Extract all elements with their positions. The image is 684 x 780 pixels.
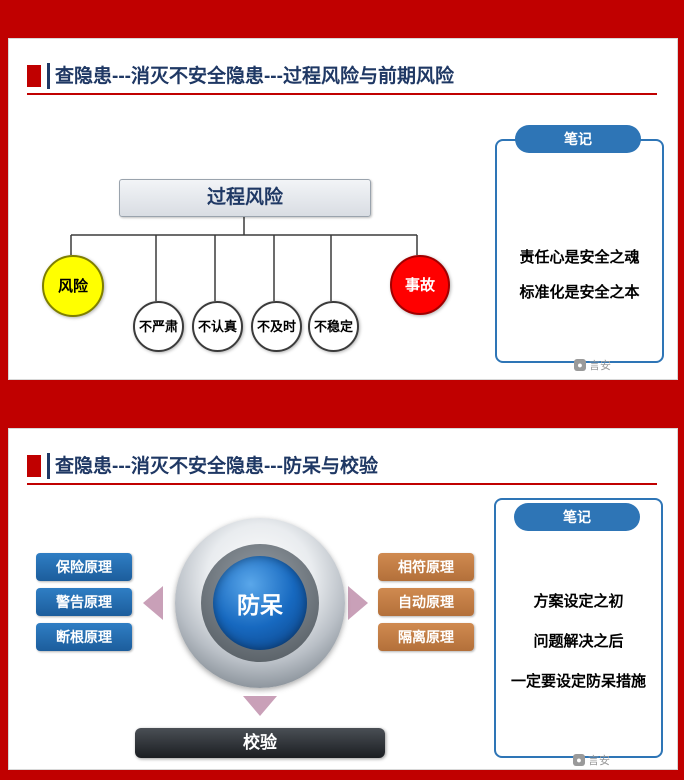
header-underline: [27, 93, 657, 95]
slide1-watermark: ● 言安: [574, 357, 611, 373]
node-accident: 事故: [390, 255, 450, 315]
pill-right-1: 相符原理: [378, 553, 474, 581]
slide2-note-tab-label: 笔记: [563, 509, 591, 525]
pill-left-1: 保险原理: [36, 553, 132, 581]
pill-left-2: 警告原理: [36, 588, 132, 616]
slide1-header-text: 查隐患---消灭不安全隐患---过程风险与前期风险: [55, 61, 454, 88]
node-sub-2-label: 不认真: [198, 319, 237, 334]
slide2-note-line-3: 一定要设定防呆措施: [496, 670, 661, 691]
slide-process-risk: 查隐患---消灭不安全隐患---过程风险与前期风险 过程风险 风险 事故 不严肃…: [8, 38, 678, 380]
arrow-right-icon: [348, 586, 368, 620]
slide1-note-line-1: 责任心是安全之魂: [497, 246, 662, 267]
node-accident-label: 事故: [405, 277, 435, 294]
node-process-risk-label: 过程风险: [207, 187, 283, 208]
header-tick-2: [47, 453, 50, 479]
slide2-header-text: 查隐患---消灭不安全隐患---防呆与校验: [55, 451, 378, 478]
node-sub-3-label: 不及时: [257, 319, 296, 334]
wechat-icon: ●: [574, 359, 586, 371]
arrow-left-icon: [143, 586, 163, 620]
pill-right-1-label: 相符原理: [398, 559, 454, 575]
header-tick: [47, 63, 50, 89]
slide2-note-panel: 方案设定之初 问题解决之后 一定要设定防呆措施: [494, 498, 663, 758]
node-risk: 风险: [42, 255, 104, 317]
slide1-note-tab: 笔记: [515, 125, 641, 153]
slide1-note-tab-label: 笔记: [564, 131, 592, 147]
bottom-bar-label: 校验: [243, 733, 277, 752]
slide1-header: 查隐患---消灭不安全隐患---过程风险与前期风险: [27, 63, 657, 97]
slide1-watermark-text: 言安: [589, 357, 611, 373]
slide2-note-line-1: 方案设定之初: [496, 590, 661, 611]
slide2-watermark: ● 言安: [573, 752, 610, 768]
pill-left-2-label: 警告原理: [56, 594, 112, 610]
header-underline-2: [27, 483, 657, 485]
pill-left-1-label: 保险原理: [56, 559, 112, 575]
pill-right-3-label: 隔离原理: [398, 629, 454, 645]
donut-center: 防呆: [213, 556, 307, 650]
node-sub-3: 不及时: [251, 301, 302, 352]
slide2-note-line-2: 问题解决之后: [496, 630, 661, 651]
slide2-header: 查隐患---消灭不安全隐患---防呆与校验: [27, 453, 657, 487]
wechat-icon-2: ●: [573, 754, 585, 766]
node-risk-label: 风险: [58, 278, 88, 295]
node-sub-4: 不稳定: [308, 301, 359, 352]
node-sub-4-label: 不稳定: [314, 319, 353, 334]
arrow-down-icon: [243, 696, 277, 716]
pill-right-2: 自动原理: [378, 588, 474, 616]
pill-right-2-label: 自动原理: [398, 594, 454, 610]
slide2-watermark-text: 言安: [588, 752, 610, 768]
donut-center-label: 防呆: [237, 586, 283, 620]
slide1-note-line-2: 标准化是安全之本: [497, 281, 662, 302]
pill-left-3-label: 断根原理: [56, 629, 112, 645]
slide1-note-panel: 责任心是安全之魂 标准化是安全之本: [495, 139, 664, 363]
node-sub-1: 不严肃: [133, 301, 184, 352]
pill-right-3: 隔离原理: [378, 623, 474, 651]
header-red-block: [27, 65, 41, 87]
node-sub-2: 不认真: [192, 301, 243, 352]
node-sub-1-label: 不严肃: [139, 319, 178, 334]
donut-chart: 防呆: [175, 518, 345, 688]
bottom-bar-verification: 校验: [135, 728, 385, 758]
header-red-block-2: [27, 455, 41, 477]
node-process-risk: 过程风险: [119, 179, 371, 217]
pill-left-3: 断根原理: [36, 623, 132, 651]
slide2-note-tab: 笔记: [514, 503, 640, 531]
